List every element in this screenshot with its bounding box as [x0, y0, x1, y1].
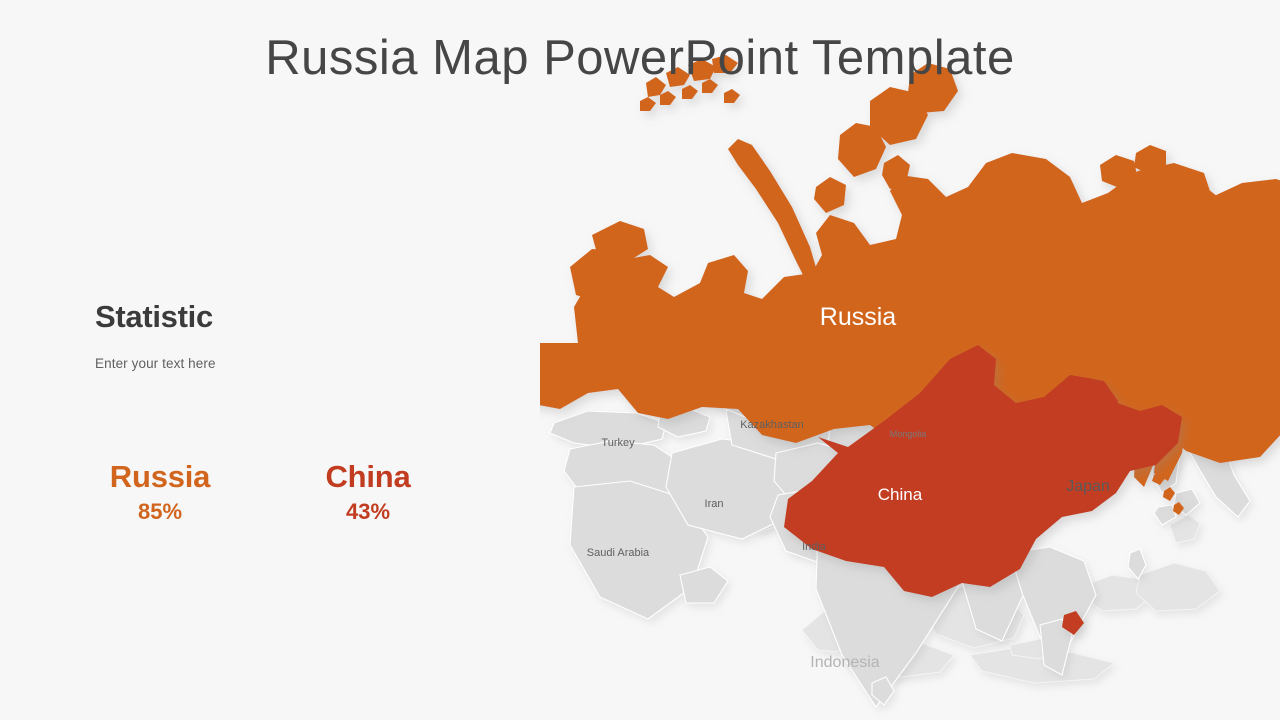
stat-value-russia: 85% — [95, 497, 225, 527]
map-label-japan: Japan — [1066, 478, 1110, 495]
map-label-indonesia: Indonesia — [810, 654, 879, 671]
map-svg[interactable]: Russia China Kazakhastan Mongolia Turkey… — [540, 55, 1280, 720]
statistics-row: Russia 85% China 43% — [95, 458, 433, 526]
map-label-russia: Russia — [820, 303, 897, 331]
page-title: Russia Map PowerPoint Template — [0, 30, 1280, 86]
statistics-heading: Statistic — [95, 300, 525, 334]
map-label-india: India — [802, 541, 827, 553]
statistics-subtext: Enter your text here — [95, 356, 525, 371]
map-label-china: China — [878, 485, 923, 504]
map-label-kazakhastan: Kazakhastan — [740, 419, 804, 431]
asia-map[interactable]: Russia China Kazakhastan Mongolia Turkey… — [540, 55, 1280, 720]
map-label-turkey: Turkey — [601, 437, 635, 449]
stat-name-china: China — [303, 458, 433, 497]
statistics-panel: Statistic Enter your text here Russia 85… — [95, 300, 525, 371]
stat-block-russia[interactable]: Russia 85% — [95, 458, 225, 526]
map-label-mongolia: Mongolia — [890, 429, 927, 439]
stat-name-russia: Russia — [95, 458, 225, 497]
map-label-iran: Iran — [705, 498, 724, 510]
stat-value-china: 43% — [303, 497, 433, 527]
map-label-saudi-arabia: Saudi Arabia — [587, 547, 650, 559]
stat-block-china[interactable]: China 43% — [303, 458, 433, 526]
